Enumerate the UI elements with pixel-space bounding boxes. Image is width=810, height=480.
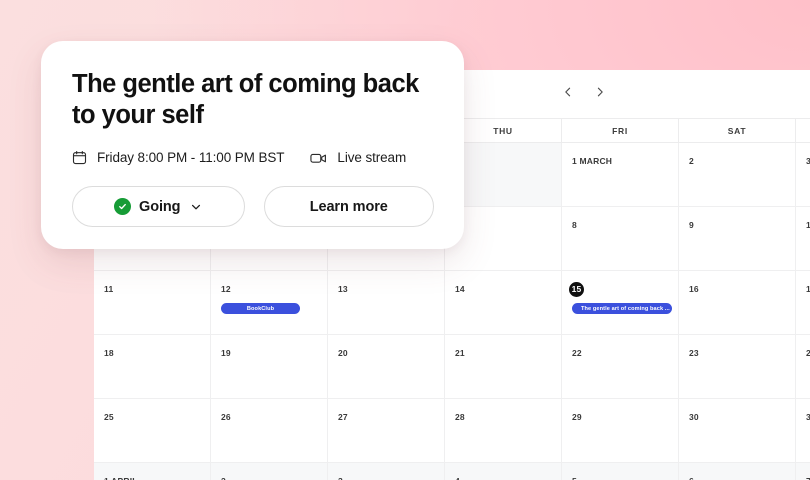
- calendar-day-cell[interactable]: 24: [796, 335, 810, 399]
- calendar-day-cell[interactable]: 9: [679, 207, 796, 271]
- event-schedule: Friday 8:00 PM - 11:00 PM BST: [72, 150, 284, 165]
- calendar-day-cell[interactable]: 1 MARCH: [562, 143, 679, 207]
- day-number: 17: [806, 284, 810, 295]
- day-number: 26: [221, 412, 231, 423]
- calendar-day-cell[interactable]: 22: [562, 335, 679, 399]
- day-number: 2: [689, 156, 694, 167]
- day-number: 12: [221, 284, 231, 295]
- day-number: 11: [104, 284, 113, 295]
- learn-more-button[interactable]: Learn more: [264, 186, 435, 227]
- calendar-day-cell[interactable]: 14: [445, 271, 562, 335]
- day-number: 6: [689, 476, 694, 480]
- day-number: 16: [689, 284, 699, 295]
- calendar-day-cell[interactable]: 21: [445, 335, 562, 399]
- day-number: 10: [806, 220, 810, 231]
- weekday-header-sat: SAT: [679, 119, 796, 142]
- going-button-label: Going: [139, 199, 180, 215]
- day-number: 29: [572, 412, 582, 423]
- event-schedule-text: Friday 8:00 PM - 11:00 PM BST: [97, 150, 284, 165]
- next-month-button[interactable]: [588, 80, 612, 104]
- going-button[interactable]: Going: [72, 186, 245, 227]
- day-number: 15: [569, 282, 584, 297]
- day-number: 24: [806, 348, 810, 359]
- day-number: 25: [104, 412, 114, 423]
- day-number: 23: [689, 348, 699, 359]
- calendar-day-cell[interactable]: 13: [328, 271, 445, 335]
- calendar-day-cell[interactable]: 17: [796, 271, 810, 335]
- day-number: 8: [572, 220, 577, 231]
- calendar-day-cell[interactable]: 7: [796, 463, 810, 480]
- day-number: 3: [338, 476, 343, 480]
- calendar-day-cell[interactable]: 26: [211, 399, 328, 463]
- check-circle-icon: [114, 198, 131, 215]
- day-number: 28: [455, 412, 465, 423]
- day-number: 2: [221, 476, 226, 480]
- day-number: 20: [338, 348, 348, 359]
- event-meta-row: Friday 8:00 PM - 11:00 PM BST Live strea…: [72, 150, 434, 165]
- calendar-day-cell[interactable]: 2: [679, 143, 796, 207]
- calendar-day-cell[interactable]: 28: [445, 399, 562, 463]
- day-number: 30: [689, 412, 699, 423]
- day-number: 5: [572, 476, 577, 480]
- calendar-day-cell[interactable]: 19: [211, 335, 328, 399]
- day-number: 27: [338, 412, 348, 423]
- day-number: 18: [104, 348, 114, 359]
- calendar-event-pill[interactable]: BookClub: [221, 303, 300, 314]
- chevron-down-icon: [190, 201, 202, 213]
- calendar-day-cell[interactable]: 3: [328, 463, 445, 480]
- calendar-day-cell[interactable]: 11: [94, 271, 211, 335]
- day-number: 13: [338, 284, 348, 295]
- calendar-day-cell[interactable]: 31: [796, 399, 810, 463]
- weekday-header-fri: FRI: [562, 119, 679, 142]
- calendar-day-cell[interactable]: 2: [211, 463, 328, 480]
- day-number: 31: [806, 412, 810, 423]
- calendar-day-cell[interactable]: 10: [796, 207, 810, 271]
- calendar-day-cell[interactable]: 12BookClub: [211, 271, 328, 335]
- day-number: 22: [572, 348, 582, 359]
- calendar-day-cell[interactable]: 15The gentle art of coming back ...: [562, 271, 679, 335]
- day-number: 7: [806, 476, 810, 480]
- calendar-day-cell[interactable]: 3: [796, 143, 810, 207]
- calendar-day-cell[interactable]: 25: [94, 399, 211, 463]
- calendar-day-cell[interactable]: 1 APRIL: [94, 463, 211, 480]
- calendar-day-cell[interactable]: 6: [679, 463, 796, 480]
- event-detail-card: The gentle art of coming back to your se…: [41, 41, 464, 249]
- day-number: 14: [455, 284, 465, 295]
- calendar-day-cell[interactable]: 4: [445, 463, 562, 480]
- calendar-day-cell[interactable]: 18: [94, 335, 211, 399]
- calendar-day-cell[interactable]: 29: [562, 399, 679, 463]
- calendar-day-cell[interactable]: 5: [562, 463, 679, 480]
- calendar-day-cell[interactable]: 16: [679, 271, 796, 335]
- calendar-event-pill[interactable]: The gentle art of coming back ...: [572, 303, 672, 314]
- prev-month-button[interactable]: [556, 80, 580, 104]
- day-number: 3: [806, 156, 810, 167]
- calendar-day-cell[interactable]: 8: [562, 207, 679, 271]
- event-location: Live stream: [310, 150, 406, 165]
- video-camera-icon: [310, 151, 327, 165]
- calendar-icon: [72, 150, 87, 165]
- learn-more-button-label: Learn more: [310, 199, 388, 215]
- chevron-left-icon: [562, 86, 574, 98]
- calendar-day-cell[interactable]: 20: [328, 335, 445, 399]
- calendar-day-cell[interactable]: 30: [679, 399, 796, 463]
- day-number: 1 MARCH: [572, 156, 612, 167]
- day-number: 19: [221, 348, 231, 359]
- weekday-header-sun: SUN: [796, 119, 810, 142]
- day-number: 1 APRIL: [104, 476, 138, 480]
- event-action-row: Going Learn more: [72, 186, 434, 227]
- event-title: The gentle art of coming back to your se…: [72, 69, 420, 131]
- calendar-navigation: [556, 80, 612, 104]
- day-number: 21: [455, 348, 465, 359]
- calendar-day-cell[interactable]: 27: [328, 399, 445, 463]
- day-number: 9: [689, 220, 694, 231]
- calendar-day-cell[interactable]: 23: [679, 335, 796, 399]
- day-number: 4: [455, 476, 460, 480]
- chevron-right-icon: [594, 86, 606, 98]
- event-location-text: Live stream: [337, 150, 406, 165]
